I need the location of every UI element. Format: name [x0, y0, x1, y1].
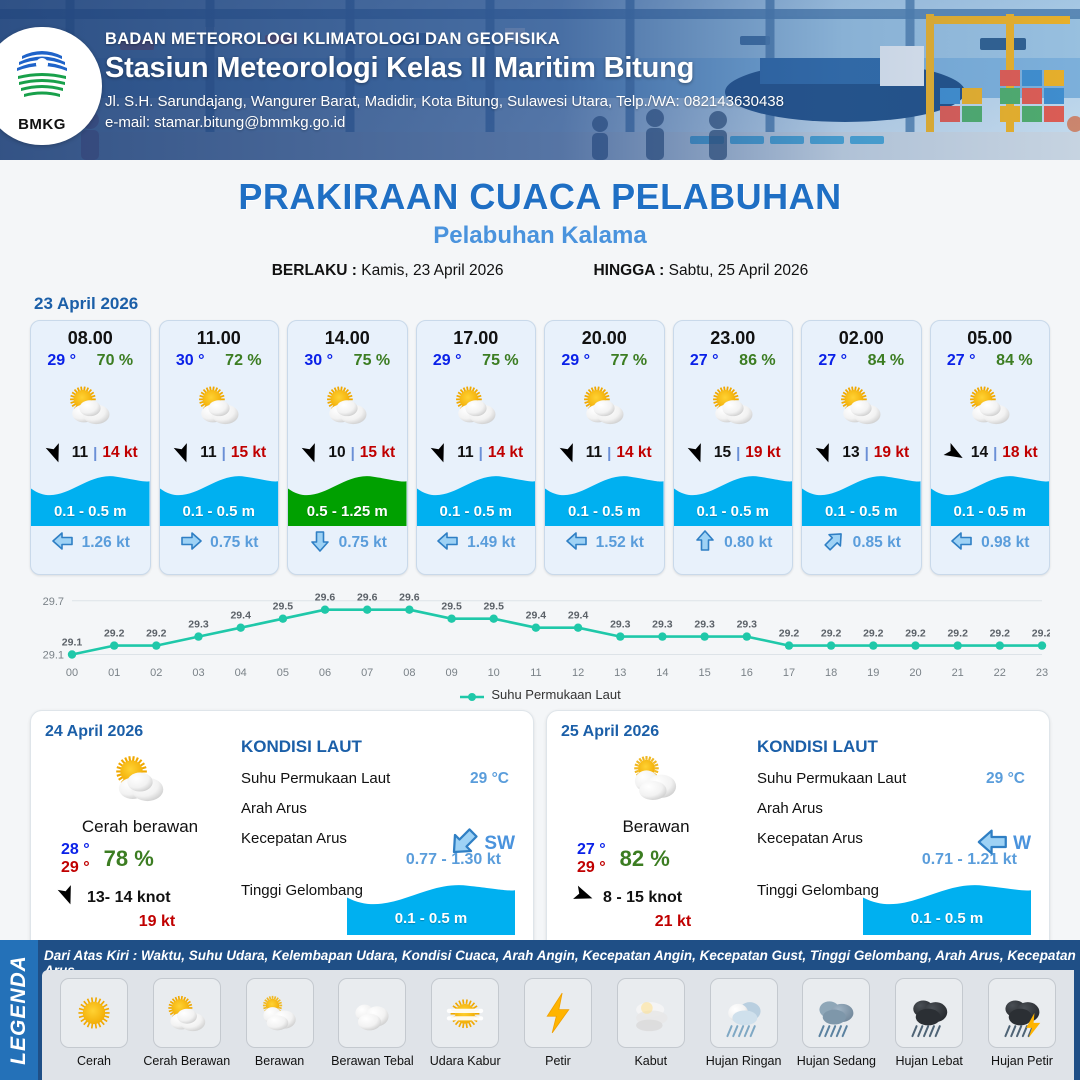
legend-item-label: Berawan	[234, 1054, 326, 1068]
wave-height-label: Tinggi Gelombang	[241, 882, 363, 899]
svg-text:19: 19	[867, 667, 879, 679]
card-wind-separator: |	[93, 445, 97, 462]
svg-text:04: 04	[235, 667, 247, 679]
legend-item: Hujan Sedang	[790, 978, 882, 1080]
forecast-card: 08.00 29 ° 70 % 11 | 14 kt 0.1 - 0.5	[30, 320, 151, 575]
day-wave-height: 0.1 - 0.5 m	[863, 910, 1031, 927]
card-temperature: 29 °	[433, 352, 462, 370]
card-current-speed: 1.49 kt	[467, 534, 515, 552]
sea-conditions-title: KONDISI LAUT	[757, 737, 1039, 757]
svg-text:29.1: 29.1	[62, 637, 83, 649]
svg-text:29.2: 29.2	[863, 628, 884, 640]
card-temp-humidity: 27 ° 84 %	[931, 349, 1050, 370]
svg-text:22: 22	[994, 667, 1006, 679]
card-time: 20.00	[545, 321, 664, 349]
card-current-speed: 1.52 kt	[596, 534, 644, 552]
day-temp-humidity: 28 ° 29 ° 78 %	[45, 841, 235, 877]
svg-text:29.4: 29.4	[568, 610, 589, 622]
svg-text:10: 10	[488, 667, 500, 679]
svg-text:29.6: 29.6	[315, 592, 336, 604]
current-direction-row: Arah Arus SW	[241, 800, 523, 817]
day-date: 24 April 2026	[45, 723, 235, 741]
current-speed-label: Kecepatan Arus	[241, 830, 347, 847]
legend-icon-petir-icon	[524, 978, 592, 1048]
svg-text:29.7: 29.7	[43, 596, 64, 608]
card-temperature: 29 °	[561, 352, 590, 370]
wave-height-label: Tinggi Gelombang	[757, 882, 879, 899]
day-gust: 21 kt	[561, 913, 751, 931]
legend-section: LEGENDA Dari Atas Kiri : Waktu, Suhu Uda…	[0, 940, 1080, 1080]
svg-text:29.3: 29.3	[610, 619, 631, 631]
card-wind-speed: 10	[328, 444, 345, 462]
card-wind: 11 | 15 kt	[160, 438, 279, 468]
day-wind-speed: 13- 14 knot	[87, 889, 171, 907]
legend-icon-berawan-icon	[246, 978, 314, 1048]
card-weather-icon	[545, 372, 664, 438]
card-wave: 0.1 - 0.5 m	[417, 470, 536, 526]
card-temp-humidity: 30 ° 75 %	[288, 349, 407, 370]
card-current-speed: 0.85 kt	[853, 534, 901, 552]
card-wind-separator: |	[736, 445, 740, 462]
legend-item-label: Udara Kabur	[419, 1054, 511, 1068]
legend-item-label: Cerah Berawan	[141, 1054, 233, 1068]
current-direction-arrow-icon	[565, 530, 589, 557]
card-wind-separator: |	[993, 445, 997, 462]
valid-from-value: Kamis, 23 April 2026	[361, 262, 503, 279]
legend-item-label: Kabut	[605, 1054, 697, 1068]
svg-text:01: 01	[108, 667, 120, 679]
page-subtitle: Pelabuhan Kalama	[0, 222, 1080, 250]
card-temp-humidity: 27 ° 86 %	[674, 349, 793, 370]
chart-legend-marker	[459, 690, 485, 700]
forecast-card: 11.00 30 ° 72 % 11 | 15 kt 0.1 - 0.5	[159, 320, 280, 575]
sea-conditions-title: KONDISI LAUT	[241, 737, 523, 757]
day-temp-min: 28 °	[61, 841, 90, 859]
valid-to-label: HINGGA :	[593, 262, 664, 279]
legend-item-label: Hujan Sedang	[790, 1054, 882, 1068]
sst-row: Suhu Permukaan Laut 29 °C	[757, 770, 1039, 787]
day-sea-conditions: KONDISI LAUT Suhu Permukaan Laut 29 °C A…	[235, 723, 523, 941]
legend-icon-berawan-tebal-icon	[338, 978, 406, 1048]
day-temp-humidity: 27 ° 29 ° 82 %	[561, 841, 751, 877]
card-humidity: 84 %	[868, 352, 904, 370]
svg-text:29.6: 29.6	[399, 592, 420, 604]
day-wind: 13- 14 knot	[45, 885, 235, 910]
card-wind-speed: 11	[586, 444, 602, 462]
day-wave-height: 0.1 - 0.5 m	[347, 910, 515, 927]
forecast-card: 20.00 29 ° 77 % 11 | 14 kt 0.1 - 0.5	[544, 320, 665, 575]
card-time: 11.00	[160, 321, 279, 349]
day-wave-graphic: 0.1 - 0.5 m	[863, 879, 1031, 935]
card-wind: 11 | 14 kt	[31, 438, 150, 468]
card-wave: 0.1 - 0.5 m	[160, 470, 279, 526]
day-wave-graphic: 0.1 - 0.5 m	[347, 879, 515, 935]
card-time: 14.00	[288, 321, 407, 349]
card-current: 0.75 kt	[160, 526, 279, 560]
card-wind-separator: |	[479, 445, 483, 462]
forecast-card: 23.00 27 ° 86 % 15 | 19 kt 0.1 - 0.5	[673, 320, 794, 575]
wind-direction-arrow-icon	[942, 444, 966, 462]
card-wind: 15 | 19 kt	[674, 438, 793, 468]
svg-text:11: 11	[530, 667, 541, 679]
card-current-speed: 0.75 kt	[210, 534, 258, 552]
title-block: PRAKIRAAN CUACA PELABUHAN Pelabuhan Kala…	[0, 160, 1080, 280]
card-wind: 10 | 15 kt	[288, 438, 407, 468]
card-wave-height: 0.1 - 0.5 m	[802, 503, 921, 520]
legend-item-label: Hujan Lebat	[883, 1054, 975, 1068]
card-time: 02.00	[802, 321, 921, 349]
day-temp-min: 27 °	[577, 841, 606, 859]
current-speed-row: Kecepatan Arus	[241, 830, 523, 847]
svg-text:29.3: 29.3	[737, 619, 758, 631]
svg-text:29.2: 29.2	[104, 628, 125, 640]
svg-text:12: 12	[572, 667, 584, 679]
svg-text:29.2: 29.2	[990, 628, 1011, 640]
wind-direction-arrow-icon	[557, 444, 581, 462]
card-weather-icon	[417, 372, 536, 438]
card-temp-humidity: 30 ° 72 %	[160, 349, 279, 370]
card-time: 08.00	[31, 321, 150, 349]
card-weather-icon	[160, 372, 279, 438]
legend-item-label: Hujan Ringan	[698, 1054, 790, 1068]
day-wind-direction-arrow-icon	[55, 885, 79, 910]
card-wave: 0.1 - 0.5 m	[931, 470, 1050, 526]
card-wind-speed: 13	[842, 444, 859, 462]
station-address: Jl. S.H. Sarundajang, Wangurer Barat, Ma…	[105, 93, 784, 110]
card-current: 0.80 kt	[674, 526, 793, 560]
svg-text:18: 18	[825, 667, 837, 679]
legend-item: Berawan	[234, 978, 326, 1080]
svg-text:03: 03	[192, 667, 204, 679]
page-header: BMKG BADAN METEOROLOGI KLIMATOLOGI DAN G…	[0, 0, 1080, 160]
legend-item: Udara Kabur	[419, 978, 511, 1080]
legend-icon-kabut-icon	[617, 978, 685, 1048]
card-temperature: 27 °	[947, 352, 976, 370]
card-current: 1.52 kt	[545, 526, 664, 560]
legend-item: Hujan Petir	[976, 978, 1068, 1080]
legend-icon-hujan-ringan-icon	[710, 978, 778, 1048]
day-temps: 28 ° 29 °	[61, 841, 90, 877]
svg-text:29.5: 29.5	[441, 601, 462, 613]
card-wave-height: 0.1 - 0.5 m	[931, 503, 1050, 520]
forecast-card: 17.00 29 ° 75 % 11 | 14 kt 0.1 - 0.5	[416, 320, 537, 575]
svg-text:00: 00	[66, 667, 78, 679]
current-direction-label: Arah Arus	[241, 800, 307, 817]
card-humidity: 70 %	[97, 352, 133, 370]
card-wind-speed: 11	[72, 444, 88, 462]
card-wave: 0.1 - 0.5 m	[802, 470, 921, 526]
legend-item: Cerah Berawan	[141, 978, 233, 1080]
wind-direction-arrow-icon	[43, 444, 67, 462]
day-left: 24 April 2026 Cerah berawan 28 ° 29 ° 78…	[45, 723, 235, 941]
wind-direction-arrow-icon	[171, 444, 195, 462]
card-humidity: 75 %	[354, 352, 390, 370]
card-weather-icon	[802, 372, 921, 438]
svg-text:29.4: 29.4	[526, 610, 547, 622]
card-wave: 0.1 - 0.5 m	[674, 470, 793, 526]
day-humidity: 82 %	[620, 846, 670, 872]
card-wind: 11 | 14 kt	[417, 438, 536, 468]
card-humidity: 84 %	[996, 352, 1032, 370]
valid-from: BERLAKU : Kamis, 23 April 2026	[272, 262, 504, 280]
card-wind-speed: 15	[714, 444, 731, 462]
card-wave-height: 0.1 - 0.5 m	[160, 503, 279, 520]
card-wind: 11 | 14 kt	[545, 438, 664, 468]
card-weather-icon	[931, 372, 1050, 438]
legend-item: Berawan Tebal	[326, 978, 418, 1080]
card-wind: 13 | 19 kt	[802, 438, 921, 468]
current-direction-arrow-icon	[51, 530, 75, 557]
day-summary-panel: 25 April 2026 Berawan 27 ° 29 ° 82 %	[546, 710, 1050, 952]
legend-icon-hujan-petir-icon	[988, 978, 1056, 1048]
bmkg-logo-text: BMKG	[0, 116, 85, 133]
day-temp-max: 29 °	[577, 859, 606, 877]
svg-text:09: 09	[445, 667, 457, 679]
card-wind-separator: |	[222, 445, 226, 462]
legend-items: Cerah Cerah Berawan Berawan	[42, 970, 1074, 1080]
current-direction-arrow-icon	[179, 530, 203, 557]
sst-chart-svg: 29.129.729.10029.20129.20229.30329.40429…	[30, 585, 1050, 685]
card-weather-icon	[674, 372, 793, 438]
card-current-speed: 1.26 kt	[82, 534, 130, 552]
forecast-card: 02.00 27 ° 84 % 13 | 19 kt 0.1 - 0.5	[801, 320, 922, 575]
card-temp-humidity: 29 ° 70 %	[31, 349, 150, 370]
card-wind-speed: 11	[457, 444, 473, 462]
legend-item: Hujan Ringan	[698, 978, 790, 1080]
forecast-card-row: 08.00 29 ° 70 % 11 | 14 kt 0.1 - 0.5	[0, 320, 1080, 575]
card-current-speed: 0.80 kt	[724, 534, 772, 552]
card-current-speed: 0.75 kt	[339, 534, 387, 552]
validity-row: BERLAKU : Kamis, 23 April 2026 HINGGA : …	[0, 262, 1080, 280]
wind-direction-arrow-icon	[428, 444, 452, 462]
svg-text:15: 15	[698, 667, 710, 679]
day-left: 25 April 2026 Berawan 27 ° 29 ° 82 %	[561, 723, 751, 941]
wind-direction-arrow-icon	[813, 444, 837, 462]
valid-from-label: BERLAKU :	[272, 262, 357, 279]
day-temp-max: 29 °	[61, 859, 90, 877]
svg-text:29.5: 29.5	[483, 601, 504, 613]
card-time: 17.00	[417, 321, 536, 349]
card-temp-humidity: 29 ° 75 %	[417, 349, 536, 370]
chart-legend: Suhu Permukaan Laut	[0, 687, 1080, 702]
legend-item: Hujan Lebat	[883, 978, 975, 1080]
card-gust: 15 kt	[360, 444, 395, 462]
day-condition: Cerah berawan	[45, 817, 235, 837]
card-temp-humidity: 29 ° 77 %	[545, 349, 664, 370]
wind-direction-arrow-icon	[685, 444, 709, 462]
card-humidity: 86 %	[739, 352, 775, 370]
card-temperature: 29 °	[47, 352, 76, 370]
day-temps: 27 ° 29 °	[577, 841, 606, 877]
day-date: 25 April 2026	[561, 723, 751, 741]
card-wave-height: 0.5 - 1.25 m	[288, 503, 407, 520]
day-summary-panel: 24 April 2026 Cerah berawan 28 ° 29 ° 78…	[30, 710, 534, 952]
svg-text:29.3: 29.3	[694, 619, 715, 631]
svg-text:05: 05	[277, 667, 289, 679]
card-wind-speed: 11	[200, 444, 216, 462]
svg-text:29.2: 29.2	[905, 628, 926, 640]
agency-name: BADAN METEOROLOGI KLIMATOLOGI DAN GEOFIS…	[105, 30, 784, 49]
current-direction-arrow-icon	[950, 530, 974, 557]
card-wave: 0.1 - 0.5 m	[31, 470, 150, 526]
legend-icon-hujan-lebat-icon	[895, 978, 963, 1048]
svg-text:02: 02	[150, 667, 162, 679]
card-time: 05.00	[931, 321, 1050, 349]
svg-text:29.2: 29.2	[146, 628, 167, 640]
svg-text:29.2: 29.2	[1032, 628, 1050, 640]
svg-text:29.5: 29.5	[273, 601, 294, 613]
card-wave-height: 0.1 - 0.5 m	[417, 503, 536, 520]
card-current: 1.26 kt	[31, 526, 150, 560]
legend-side-text: LEGENDA	[7, 955, 31, 1065]
card-gust: 18 kt	[1002, 444, 1037, 462]
legend-item-label: Hujan Petir	[976, 1054, 1068, 1068]
svg-text:29.4: 29.4	[230, 610, 251, 622]
card-temperature: 30 °	[304, 352, 333, 370]
legend-icon-cerah-berawan-icon	[153, 978, 221, 1048]
card-weather-icon	[31, 372, 150, 438]
sst-label: Suhu Permukaan Laut	[241, 770, 390, 787]
card-gust: 15 kt	[231, 444, 266, 462]
svg-text:06: 06	[319, 667, 331, 679]
card-temperature: 27 °	[818, 352, 847, 370]
current-direction-arrow-icon	[436, 530, 460, 557]
svg-text:17: 17	[783, 667, 795, 679]
svg-text:16: 16	[741, 667, 753, 679]
card-temp-humidity: 27 ° 84 %	[802, 349, 921, 370]
valid-to: HINGGA : Sabtu, 25 April 2026	[593, 262, 808, 280]
svg-text:13: 13	[614, 667, 626, 679]
card-humidity: 75 %	[482, 352, 518, 370]
current-direction-label: Arah Arus	[757, 800, 823, 817]
sst-row: Suhu Permukaan Laut 29 °C	[241, 770, 523, 787]
svg-text:29.6: 29.6	[357, 592, 378, 604]
legend-item-label: Berawan Tebal	[326, 1054, 418, 1068]
card-wave: 0.1 - 0.5 m	[545, 470, 664, 526]
card-current: 0.75 kt	[288, 526, 407, 560]
day-weather-icon	[561, 743, 751, 813]
card-weather-icon	[288, 372, 407, 438]
legend-icon-udara-kabur-icon	[431, 978, 499, 1048]
day-summary-row: 24 April 2026 Cerah berawan 28 ° 29 ° 78…	[0, 702, 1080, 952]
svg-text:29.2: 29.2	[821, 628, 842, 640]
day-wind: 8 - 15 knot	[561, 885, 751, 910]
svg-text:29.3: 29.3	[188, 619, 209, 631]
forecast-date-label: 23 April 2026	[34, 294, 1080, 314]
legend-item: Cerah	[48, 978, 140, 1080]
legend-icon-cerah-icon	[60, 978, 128, 1048]
card-gust: 14 kt	[102, 444, 137, 462]
card-wind-separator: |	[351, 445, 355, 462]
bmkg-logo-icon	[6, 40, 78, 110]
card-time: 23.00	[674, 321, 793, 349]
card-gust: 19 kt	[745, 444, 780, 462]
day-wind-speed: 8 - 15 knot	[603, 889, 682, 907]
current-direction-arrow-icon	[693, 530, 717, 557]
card-wind-separator: |	[865, 445, 869, 462]
sst-value: 29 °C	[470, 770, 509, 788]
svg-text:14: 14	[656, 667, 668, 679]
card-wind-speed: 14	[971, 444, 988, 462]
legend-item-label: Petir	[512, 1054, 604, 1068]
day-wind-direction-arrow-icon	[571, 885, 595, 910]
svg-text:21: 21	[952, 667, 964, 679]
card-gust: 14 kt	[488, 444, 523, 462]
svg-text:23: 23	[1036, 667, 1048, 679]
card-current: 1.49 kt	[417, 526, 536, 560]
card-current: 0.98 kt	[931, 526, 1050, 560]
svg-text:20: 20	[909, 667, 921, 679]
card-gust: 19 kt	[874, 444, 909, 462]
legend-item: Petir	[512, 978, 604, 1080]
forecast-card: 14.00 30 ° 75 % 10 | 15 kt 0.5 - 1.2	[287, 320, 408, 575]
current-speed-label: Kecepatan Arus	[757, 830, 863, 847]
card-humidity: 77 %	[611, 352, 647, 370]
svg-text:29.2: 29.2	[947, 628, 968, 640]
day-condition: Berawan	[561, 817, 751, 837]
card-wave-height: 0.1 - 0.5 m	[545, 503, 664, 520]
wind-direction-arrow-icon	[299, 444, 323, 462]
valid-to-value: Sabtu, 25 April 2026	[669, 262, 809, 279]
svg-text:29.1: 29.1	[43, 650, 64, 662]
day-gust: 19 kt	[45, 913, 235, 931]
svg-text:29.2: 29.2	[779, 628, 800, 640]
card-wave-height: 0.1 - 0.5 m	[31, 503, 150, 520]
legend-side-label: LEGENDA	[0, 940, 38, 1080]
svg-text:07: 07	[361, 667, 373, 679]
card-current-speed: 0.98 kt	[981, 534, 1029, 552]
legend-icon-hujan-sedang-icon	[802, 978, 870, 1048]
forecast-card: 05.00 27 ° 84 % 14 | 18 kt 0.1 - 0.5	[930, 320, 1051, 575]
page-title: PRAKIRAAN CUACA PELABUHAN	[0, 176, 1080, 218]
legend-item-label: Cerah	[48, 1054, 140, 1068]
day-sea-conditions: KONDISI LAUT Suhu Permukaan Laut 29 °C A…	[751, 723, 1039, 941]
sst-value: 29 °C	[986, 770, 1025, 788]
card-wave-height: 0.1 - 0.5 m	[674, 503, 793, 520]
card-temperature: 30 °	[176, 352, 205, 370]
card-temperature: 27 °	[690, 352, 719, 370]
svg-text:29.3: 29.3	[652, 619, 673, 631]
card-wind-separator: |	[607, 445, 611, 462]
card-gust: 14 kt	[616, 444, 651, 462]
day-humidity: 78 %	[104, 846, 154, 872]
card-humidity: 72 %	[225, 352, 261, 370]
current-direction-row: Arah Arus W	[757, 800, 1039, 817]
day-weather-icon	[45, 743, 235, 813]
svg-text:08: 08	[403, 667, 415, 679]
chart-legend-label: Suhu Permukaan Laut	[491, 687, 620, 702]
station-email: e-mail: stamar.bitung@bmmkg.go.id	[105, 114, 784, 131]
station-name: Stasiun Meteorologi Kelas II Maritim Bit…	[105, 52, 784, 85]
card-wind: 14 | 18 kt	[931, 438, 1050, 468]
sst-chart: 29.129.729.10029.20129.20229.30329.40429…	[30, 585, 1050, 685]
current-direction-arrow-icon	[308, 530, 332, 557]
card-wave: 0.5 - 1.25 m	[288, 470, 407, 526]
current-speed-row: Kecepatan Arus	[757, 830, 1039, 847]
sst-label: Suhu Permukaan Laut	[757, 770, 906, 787]
legend-item: Kabut	[605, 978, 697, 1080]
card-current: 0.85 kt	[802, 526, 921, 560]
current-direction-arrow-icon	[822, 530, 846, 557]
